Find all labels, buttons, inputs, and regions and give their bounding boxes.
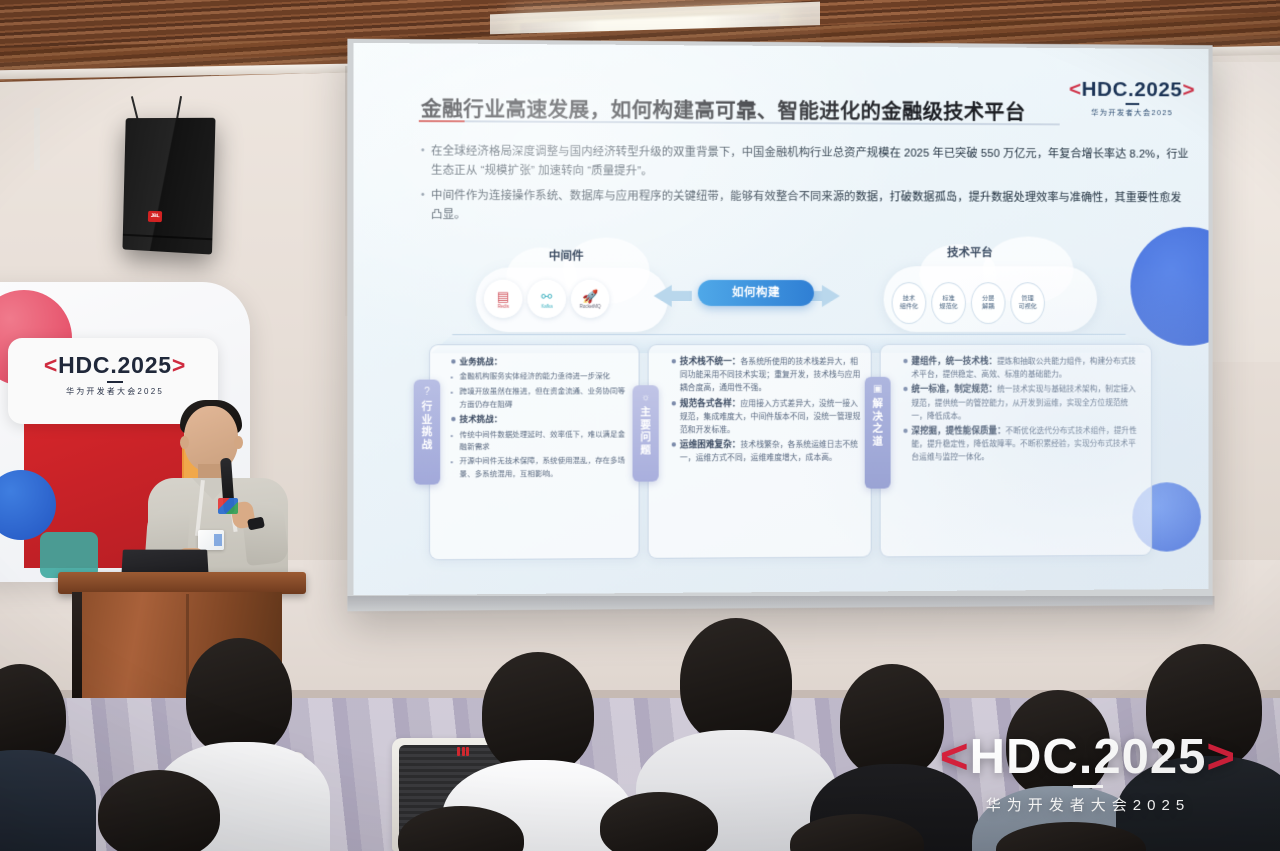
panel-tab-industry-challenges: ? 行业挑战: [414, 380, 440, 485]
diagram-flow-row: 中间件 技术平台 ▤ Redis ⚯ Kafka 🚀 RocketMQ: [451, 251, 1120, 344]
slide-panel-group: ? 行业挑战 ●业务挑战： •金融机构服务实体经济的能力亟待进一步深化 •跨境开…: [429, 344, 1150, 559]
list-text: 开源中间件无技术保障，系统使用混乱，存在多场景、多系统混用，互相影响。: [460, 455, 630, 481]
redis-icon: ▤ Redis: [484, 280, 523, 318]
panel-tab-main-problems: ☼ 主要问题: [633, 385, 659, 481]
slide-hdc-logo: <HDC.2025> 华为开发者大会2025: [1069, 78, 1195, 118]
list-item: ●技术挑战：: [450, 413, 629, 427]
pill-line-1: 标准: [942, 295, 954, 303]
list-text: 规范各式各样：应用接入方式差异大，没统一接入规范，集成难度大，中间件版本不同，没…: [680, 396, 862, 436]
decorative-blue-circle: [1130, 227, 1208, 346]
how-to-build-pill: 如何构建: [698, 280, 814, 306]
left-arrow-bar: [670, 291, 692, 301]
list-lead: 统一标准，制定规范：: [911, 384, 997, 394]
list-item: •传统中间件数据处理延时、效率低下，难以满足金融新需求: [450, 428, 629, 454]
list-marker: ●: [903, 355, 912, 381]
list-text: 建组件，统一技术栈：提炼和抽取公共能力组件，构建分布式技术平台，提供稳定、高效、…: [911, 355, 1142, 382]
jbl-logo: JBL: [148, 211, 162, 222]
huawei-logo-icon: [457, 747, 469, 756]
list-text: 业务挑战：: [460, 355, 503, 369]
logo-name: HDC.2025: [1082, 78, 1183, 101]
middleware-cloud-label: 中间件: [549, 248, 584, 264]
kafka-icon: ⚯ Kafka: [527, 280, 565, 318]
kafka-label: Kafka: [541, 303, 552, 308]
list-item: ●深挖掘，提性能保质量：不断优化迭代分布式技术组件，提升性能，提升稳定性，降低故…: [903, 424, 1143, 464]
logo-bracket-right: >: [172, 352, 186, 378]
list-marker: •: [450, 456, 459, 481]
logo-bracket-left: <: [1069, 78, 1082, 101]
backdrop-hdc-logo: <HDC.2025> 华为开发者大会2025: [20, 352, 210, 397]
audience-head: [680, 618, 792, 744]
bullet-marker: •: [421, 142, 431, 180]
list-lead: 深挖掘，提性能保质量：: [911, 425, 1005, 435]
logo-dash: [1125, 103, 1139, 105]
left-arrow-icon: [654, 285, 672, 307]
list-marker: ●: [671, 355, 680, 395]
wall-mounted-loudspeaker: [122, 118, 215, 255]
pill-line-1: 技术: [903, 295, 915, 303]
list-item: ●运维困难复杂：技术栈繁杂，各系统运维日志不统一，运维方式不同，运维难度增大，成…: [671, 438, 862, 465]
audience-head: [186, 638, 292, 756]
logo-bracket-left: <: [940, 730, 970, 784]
watermark-hdc-logo: <HDC.2025> 华为开发者大会2025: [940, 730, 1236, 815]
list-marker: ●: [671, 397, 680, 437]
right-arrow-icon: [822, 285, 840, 307]
pill-line-2: 解耦: [982, 303, 994, 311]
platform-capability-row: 技术 组件化 标准 规范化 分层 解耦 管理 可视化: [892, 282, 1045, 324]
list-item: •开源中间件无技术保障，系统使用混乱，存在多场景、多系统混用，互相影响。: [450, 455, 629, 481]
pill-line-1: 管理: [1022, 295, 1034, 303]
list-item: ●业务挑战：: [450, 355, 629, 369]
bullet-item: • 在全球经济格局深度调整与国内经济转型升级的双重背景下，中国金融机构行业总资产…: [421, 142, 1189, 183]
panel-tab-label: 解决之道: [870, 398, 885, 448]
logo-name: HDC.2025: [58, 352, 172, 378]
middleware-icon-row: ▤ Redis ⚯ Kafka 🚀 RocketMQ: [484, 280, 609, 318]
list-lead: 运维困难复杂：: [680, 439, 741, 449]
watermark-wordmark: <HDC.2025>: [940, 730, 1236, 784]
list-item: ●规范各式各样：应用接入方式差异大，没统一接入规范，集成难度大，中间件版本不同，…: [671, 396, 862, 436]
slide-bullet-list: • 在全球经济格局深度调整与国内经济转型升级的双重背景下，中国金融机构行业总资产…: [421, 142, 1189, 233]
redis-glyph: ▤: [497, 289, 509, 302]
list-text: 技术栈不统一：各系统所使用的技术栈差异大，相同功能采用不同技术实现；重复开发，技…: [680, 355, 862, 395]
panel-body: ●技术栈不统一：各系统所使用的技术栈差异大，相同功能采用不同技术实现；重复开发，…: [649, 345, 871, 475]
list-lead: 规范各式各样：: [680, 398, 741, 408]
pill-line-2: 组件化: [900, 303, 918, 311]
bullet-text: 在全球经济格局深度调整与国内经济转型升级的双重背景下，中国金融机构行业总资产规模…: [431, 142, 1189, 183]
platform-pill-layered-decoupling: 分层 解耦: [971, 282, 1006, 324]
backdrop-logo-subtitle: 华为开发者大会2025: [20, 386, 210, 397]
slide-logo-wordmark: <HDC.2025>: [1069, 78, 1195, 103]
list-marker: ●: [903, 425, 912, 465]
jbl-logo-text: JBL: [148, 211, 162, 222]
logo-dash: [107, 381, 123, 383]
list-marker: •: [450, 371, 459, 384]
bullet-text: 中间件作为连接操作系统、数据库与应用程序的关键纽带，能够有效整合不同来源的数据，…: [431, 187, 1189, 227]
list-marker: •: [450, 429, 459, 454]
projection-screen: 金融行业高速发展，如何构建高可靠、智能进化的金融级技术平台 <HDC.2025>…: [354, 43, 1209, 595]
redis-label: Redis: [497, 303, 508, 308]
list-text: 统一标准，制定规范：统一技术实现与基础技术架构，制定接入规范，提供统一的管控能力…: [911, 383, 1142, 423]
list-item: ●技术栈不统一：各系统所使用的技术栈差异大，相同功能采用不同技术实现；重复开发，…: [671, 355, 862, 395]
pill-line-2: 可视化: [1019, 303, 1037, 311]
platform-pill-componentization: 技术 组件化: [892, 282, 927, 324]
audience-head: [482, 652, 594, 774]
logo-name: HDC.2025: [970, 730, 1207, 784]
platform-cloud-label: 技术平台: [947, 244, 993, 260]
panel-solutions: ▣ 解决之道 ●建组件，统一技术栈：提炼和抽取公共能力组件，构建分布式技术平台，…: [880, 344, 1152, 558]
presentation-slide: 金融行业高速发展，如何构建高可靠、智能进化的金融级技术平台 <HDC.2025>…: [354, 43, 1209, 595]
list-marker: •: [450, 386, 459, 411]
logo-bracket-right: >: [1206, 730, 1236, 784]
platform-pill-visual-management: 管理 可视化: [1010, 282, 1045, 324]
list-marker: ●: [450, 355, 459, 369]
rocketmq-label: RocketMQ: [580, 303, 601, 308]
pill-line-1: 分层: [982, 295, 994, 303]
list-text: 跨境开放虽然在推进，但在资金流通、业务协同等方面仍存在阻碍: [460, 386, 630, 411]
kafka-glyph: ⚯: [541, 289, 552, 302]
screen-bottom-shadow: [347, 596, 1214, 614]
panel-body: ●业务挑战： •金融机构服务实体经济的能力亟待进一步深化 •跨境开放虽然在推进，…: [430, 345, 639, 491]
panel-tab-label: 行业挑战: [419, 401, 434, 452]
podium-top-surface: [58, 572, 306, 594]
rocketmq-glyph: 🚀: [582, 289, 598, 302]
audience-head: [840, 664, 944, 778]
sun-icon: ☼: [633, 392, 659, 403]
podium-support-leg: [34, 108, 40, 170]
list-item: •跨境开放虽然在推进，但在资金流通、业务协同等方面仍存在阻碍: [450, 386, 629, 411]
list-text: 金融机构服务实体经济的能力亟待进一步深化: [460, 371, 611, 384]
logo-bracket-left: <: [44, 352, 58, 378]
bullet-marker: •: [421, 187, 431, 225]
audience-head: [98, 770, 220, 851]
presenter-badge: [198, 530, 224, 550]
panel-main-problems: ☼ 主要问题 ●技术栈不统一：各系统所使用的技术栈差异大，相同功能采用不同技术实…: [648, 344, 872, 559]
list-marker: ●: [450, 413, 459, 427]
list-marker: ●: [903, 383, 912, 423]
bullet-item: • 中间件作为连接操作系统、数据库与应用程序的关键纽带，能够有效整合不同来源的数…: [421, 187, 1189, 227]
list-item: ●建组件，统一技术栈：提炼和抽取公共能力组件，构建分布式技术平台，提供稳定、高效…: [903, 355, 1143, 382]
list-lead: 技术挑战：: [460, 414, 503, 424]
list-item: ●统一标准，制定规范：统一技术实现与基础技术架构，制定接入规范，提供统一的管控能…: [903, 383, 1143, 423]
list-item: •金融机构服务实体经济的能力亟待进一步深化: [450, 371, 629, 384]
panel-tab-label: 主要问题: [638, 406, 653, 456]
panel-industry-challenges: ? 行业挑战 ●业务挑战： •金融机构服务实体经济的能力亟待进一步深化 •跨境开…: [429, 344, 640, 560]
shield-icon: ▣: [865, 384, 891, 395]
list-text: 传统中间件数据处理延时、效率低下，难以满足金融新需求: [460, 428, 630, 454]
slide-logo-subtitle: 华为开发者大会2025: [1069, 106, 1195, 118]
backdrop-logo-wordmark: <HDC.2025>: [20, 352, 210, 379]
microphone-logo-flag: [218, 498, 238, 514]
rocketmq-icon: 🚀 RocketMQ: [571, 280, 609, 318]
logo-bracket-right: >: [1182, 79, 1195, 102]
platform-pill-standardization: 标准 规范化: [931, 282, 966, 324]
list-lead: 建组件，统一技术栈：: [911, 356, 997, 366]
panel-body: ●建组件，统一技术栈：提炼和抽取公共能力组件，构建分布式技术平台，提供稳定、高效…: [881, 345, 1151, 474]
presenter-ear-right: [234, 436, 243, 449]
logo-dash: [1073, 785, 1103, 788]
panel-tab-solutions: ▣ 解决之道: [865, 377, 891, 489]
question-mark-icon: ?: [414, 387, 440, 398]
list-text: 运维困难复杂：技术栈繁杂，各系统运维日志不统一，运维方式不同，运维难度增大，成本…: [680, 438, 862, 465]
presenter-ear-left: [180, 436, 189, 449]
list-lead: 业务挑战：: [460, 356, 503, 366]
watermark-subtitle: 华为开发者大会2025: [940, 794, 1236, 815]
list-lead: 技术栈不统一：: [680, 356, 741, 366]
list-text: 技术挑战：: [460, 413, 503, 427]
pill-line-2: 规范化: [939, 303, 957, 311]
list-marker: ●: [671, 439, 680, 466]
list-text: 深挖掘，提性能保质量：不断优化迭代分布式技术组件，提升性能，提升稳定性，降低故障…: [911, 424, 1142, 464]
conference-photo-scene: JBL 金融行业高速发展，如何构建高可靠、智能进化的金融级技术平台 <HDC.2…: [0, 0, 1280, 851]
